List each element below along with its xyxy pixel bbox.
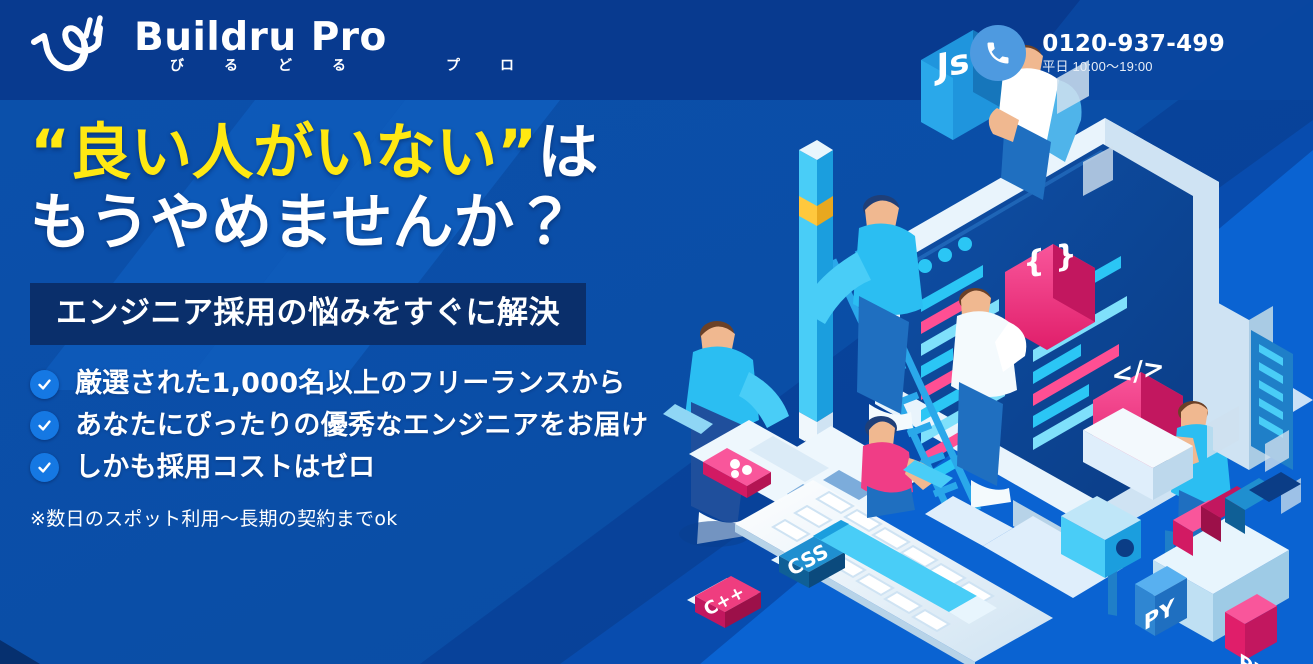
check-glyph-icon	[36, 376, 53, 393]
kana-2: る	[224, 58, 244, 72]
check-glyph-icon	[36, 459, 53, 476]
hero-copy: “良い人がいない”は もうやめませんか？ エンジニア採用の悩みをすぐに解決 厳選…	[30, 118, 710, 531]
kana-5: プ	[446, 58, 466, 72]
kana-3: ど	[278, 58, 298, 72]
person-pencil	[795, 140, 923, 500]
contact-phone[interactable]: 0120-937-499 平日 10:00〜19:00	[970, 25, 1225, 81]
benefit-label: あなたにぴったりの優秀なエンジニアをお届け	[75, 411, 648, 441]
kana-1: び	[170, 58, 190, 72]
kana-4: る	[332, 58, 352, 72]
phone-icon-circle	[970, 25, 1026, 81]
headline-line-2: もうやめませんか？	[30, 188, 710, 258]
phone-icon	[984, 39, 1012, 67]
phone-text-block: 0120-937-499 平日 10:00〜19:00	[1042, 32, 1225, 75]
kana-6: ロ	[500, 58, 520, 72]
logo-name: Buildru Pro	[134, 18, 520, 57]
buildru-swoosh-logo-icon	[28, 14, 120, 76]
sub-headline-bar: エンジニア採用の悩みをすぐに解決	[30, 283, 586, 345]
logo-kana-row: び る ど る プ ロ	[134, 58, 520, 72]
list-item: あなたにぴったりの優秀なエンジニアをお届け	[30, 411, 710, 441]
benefit-label: しかも採用コストはゼロ	[75, 453, 375, 483]
hero-section: Js { } </>	[0, 0, 1313, 664]
headline-line-1: “良い人がいない”は	[30, 118, 710, 188]
site-header: Buildru Pro び る ど る プ ロ 0120-937-49	[0, 0, 1313, 100]
headline-line-2-text: もうやめませんか？	[30, 187, 575, 258]
logo[interactable]: Buildru Pro び る ど る プ ロ	[28, 14, 520, 76]
check-icon	[30, 411, 59, 440]
list-item: しかも採用コストはゼロ	[30, 453, 710, 483]
headline: “良い人がいない”は もうやめませんか？	[30, 118, 710, 257]
benefit-list: 厳選された1,000名以上のフリーランスから あなたにぴったりの優秀なエンジニア…	[30, 369, 710, 482]
phone-hours: 平日 10:00〜19:00	[1042, 59, 1225, 75]
cpp-tile: C++	[687, 576, 761, 628]
headline-tail: は	[537, 117, 598, 188]
check-icon	[30, 370, 59, 399]
headline-highlight: “良い人がいない”	[30, 117, 537, 188]
check-icon	[30, 453, 59, 482]
logo-text: Buildru Pro び る ど る プ ロ	[134, 18, 520, 72]
check-glyph-icon	[36, 417, 53, 434]
phone-number[interactable]: 0120-937-499	[1042, 32, 1225, 57]
list-item: 厳選された1,000名以上のフリーランスから	[30, 369, 710, 399]
footnote: ※数日のスポット利用〜長期の契約までok	[30, 504, 710, 531]
benefit-label: 厳選された1,000名以上のフリーランスから	[75, 369, 625, 399]
